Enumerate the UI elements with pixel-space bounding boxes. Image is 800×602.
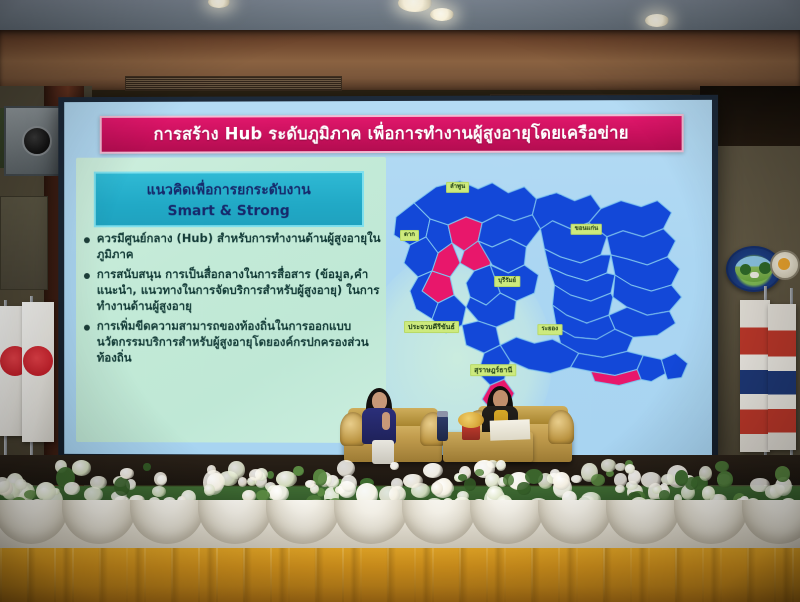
flower-blossom bbox=[750, 478, 770, 493]
skirt-fold bbox=[387, 548, 389, 602]
flower-blossom bbox=[571, 475, 582, 483]
slide-title-banner: การสร้าง Hub ระดับภูมิภาค เพื่อการทำงานผ… bbox=[100, 114, 684, 154]
flower-blossom bbox=[238, 477, 247, 487]
flower-blossom bbox=[553, 472, 570, 490]
skirt-fold bbox=[675, 548, 677, 602]
skirt-fold bbox=[54, 548, 56, 602]
flower-blossom bbox=[114, 477, 130, 496]
document-papers bbox=[490, 419, 531, 440]
flower-blossom bbox=[204, 484, 215, 496]
speaker-cone-icon bbox=[22, 126, 52, 156]
flower-blossom bbox=[293, 466, 304, 477]
bullet-text: การสนับสนุน การเป็นสื่อกลางในการสื่อสาร … bbox=[97, 267, 382, 315]
wall-panel bbox=[0, 196, 48, 290]
skirt-fold bbox=[126, 548, 128, 602]
flower-blossom bbox=[525, 469, 543, 485]
drape-swag bbox=[130, 500, 204, 544]
flower-blossom bbox=[614, 473, 627, 487]
skirt-fold bbox=[27, 548, 29, 602]
flower-blossom bbox=[775, 466, 790, 482]
skirt-fold bbox=[171, 548, 173, 602]
skirt-fold bbox=[144, 548, 146, 602]
flower-blossom bbox=[685, 477, 698, 490]
flower-blossom bbox=[717, 471, 733, 488]
flower-blossom bbox=[423, 463, 443, 479]
drape-swag bbox=[62, 500, 136, 544]
drape-swag bbox=[198, 500, 272, 544]
stage-skirt bbox=[0, 548, 800, 602]
slide-bullet-list: ควรมีศูนย์กลาง (Hub) สำหรับการทำงานด้านผ… bbox=[84, 231, 382, 371]
skirt-fold bbox=[720, 548, 722, 602]
air-vent bbox=[125, 76, 342, 91]
flower-blossom bbox=[591, 474, 605, 485]
flower-blossom bbox=[267, 471, 274, 479]
bottle-cap bbox=[437, 411, 448, 417]
flower-blossom bbox=[702, 486, 716, 501]
drape-swag bbox=[674, 500, 748, 544]
person-torso bbox=[362, 408, 396, 444]
bullet-text: การเพิ่มขีดความสามารถของท้องถิ่นในการออก… bbox=[97, 319, 382, 367]
skirt-fold bbox=[414, 548, 416, 602]
flower-blossom bbox=[641, 472, 662, 488]
japan-flag-sun-icon bbox=[23, 346, 53, 376]
skirt-fold bbox=[432, 548, 434, 602]
drape-swag bbox=[538, 500, 612, 544]
flower-blossom bbox=[152, 486, 166, 497]
bullet-dot-icon bbox=[84, 325, 90, 331]
skirt-fold bbox=[702, 548, 704, 602]
flower-blossom bbox=[517, 482, 530, 495]
flower-blossom bbox=[120, 468, 134, 478]
flower-blossom bbox=[715, 461, 729, 472]
flower-blossom bbox=[403, 474, 422, 488]
drape-swag bbox=[402, 500, 476, 544]
flower-blossom bbox=[699, 466, 712, 481]
skirt-fold bbox=[216, 548, 218, 602]
bullet-dot-icon bbox=[84, 237, 90, 243]
sofa-right-arm bbox=[548, 410, 574, 444]
flower-blossom bbox=[24, 490, 37, 499]
flower-blossom bbox=[143, 463, 151, 472]
table-flowers bbox=[458, 412, 484, 428]
skirt-fold bbox=[243, 548, 245, 602]
skirt-fold bbox=[459, 548, 461, 602]
skirt-fold bbox=[747, 548, 749, 602]
flower-blossom bbox=[15, 479, 27, 491]
slide-content-panel: แนวคิดเพื่อการยกระดับงาน Smart & Strong … bbox=[76, 157, 386, 443]
skirt-fold bbox=[558, 548, 560, 602]
skirt-fold bbox=[648, 548, 650, 602]
bullet-text: ควรมีศูนย์กลาง (Hub) สำหรับการทำงานด้านผ… bbox=[97, 231, 382, 263]
map-label-rayong: ระยอง bbox=[537, 324, 562, 335]
slide-title-text: การสร้าง Hub ระดับภูมิภาค เพื่อการทำงานผ… bbox=[154, 120, 629, 147]
map-label-suratthani: สุราษฎร์ธานี bbox=[470, 364, 516, 376]
person-arm bbox=[382, 412, 390, 430]
skirt-fold bbox=[486, 548, 488, 602]
map-label-prachuap: ประจวบคีรีขันธ์ bbox=[404, 321, 459, 333]
japan-flag bbox=[22, 302, 54, 442]
flower-blossom bbox=[228, 461, 245, 478]
skirt-fold bbox=[315, 548, 317, 602]
flower-blossom bbox=[72, 460, 91, 475]
ceiling-light bbox=[430, 8, 454, 21]
wall-clock bbox=[770, 250, 800, 280]
ceiling-beam bbox=[0, 30, 800, 90]
skirt-fold bbox=[270, 548, 272, 602]
drape-swag bbox=[266, 500, 340, 544]
list-item: ควรมีศูนย์กลาง (Hub) สำหรับการทำงานด้านผ… bbox=[84, 231, 382, 263]
slide-subtitle-box: แนวคิดเพื่อการยกระดับงาน Smart & Strong bbox=[94, 171, 364, 227]
skirt-fold bbox=[630, 548, 632, 602]
skirt-fold bbox=[504, 548, 506, 602]
skirt-fold bbox=[288, 548, 290, 602]
skirt-fold bbox=[99, 548, 101, 602]
flower-blossom bbox=[464, 478, 476, 491]
slide-subtitle-line1: แนวคิดเพื่อการยกระดับงาน bbox=[147, 179, 311, 201]
flower-blossom bbox=[90, 476, 106, 489]
skirt-fold bbox=[0, 548, 2, 602]
drape-swag bbox=[470, 500, 544, 544]
map-label-lamphun: ลำพูน bbox=[446, 182, 469, 193]
flower-blossom bbox=[431, 482, 442, 495]
flower-blossom bbox=[625, 464, 635, 473]
bullet-dot-icon bbox=[84, 273, 90, 279]
skirt-fold bbox=[531, 548, 533, 602]
skirt-fold bbox=[360, 548, 362, 602]
map-label-buriram: บุรีรัมย์ bbox=[494, 276, 520, 287]
flower-blossom bbox=[475, 469, 484, 476]
skirt-fold bbox=[792, 548, 794, 602]
flower-blossom bbox=[64, 482, 79, 495]
drape-swag bbox=[742, 500, 800, 544]
list-item: การเพิ่มขีดความสามารถของท้องถิ่นในการออก… bbox=[84, 319, 382, 367]
map-label-khonkaen: ขอนแก่น bbox=[571, 224, 603, 235]
skirt-fold bbox=[72, 548, 74, 602]
thailand-flag bbox=[740, 300, 770, 452]
clock-face bbox=[778, 258, 790, 270]
flower-blossom bbox=[157, 475, 167, 485]
stage-skirt-folds bbox=[0, 548, 800, 602]
flower-blossom bbox=[503, 474, 514, 486]
thailand-flag bbox=[768, 304, 796, 450]
water-bottle bbox=[437, 415, 448, 441]
flower-blossom bbox=[390, 462, 398, 470]
flower-blossom bbox=[601, 459, 617, 472]
list-item: การสนับสนุน การเป็นสื่อกลางในการสื่อสาร … bbox=[84, 267, 382, 315]
slide-subtitle-line2: Smart & Strong bbox=[168, 203, 290, 219]
ceiling-light bbox=[645, 14, 669, 27]
conference-photo-scene: การสร้าง Hub ระดับภูมิภาค เพื่อการทำงานผ… bbox=[0, 0, 800, 602]
flower-blossom bbox=[496, 460, 506, 472]
skirt-fold bbox=[576, 548, 578, 602]
drape-swag bbox=[334, 500, 408, 544]
skirt-fold bbox=[774, 548, 776, 602]
seal-animal-icon bbox=[750, 272, 759, 278]
drape-swag bbox=[606, 500, 680, 544]
drape-swag bbox=[0, 500, 68, 544]
map-label-tak: ตาก bbox=[400, 230, 419, 241]
skirt-fold bbox=[198, 548, 200, 602]
skirt-fold bbox=[342, 548, 344, 602]
skirt-fold bbox=[603, 548, 605, 602]
